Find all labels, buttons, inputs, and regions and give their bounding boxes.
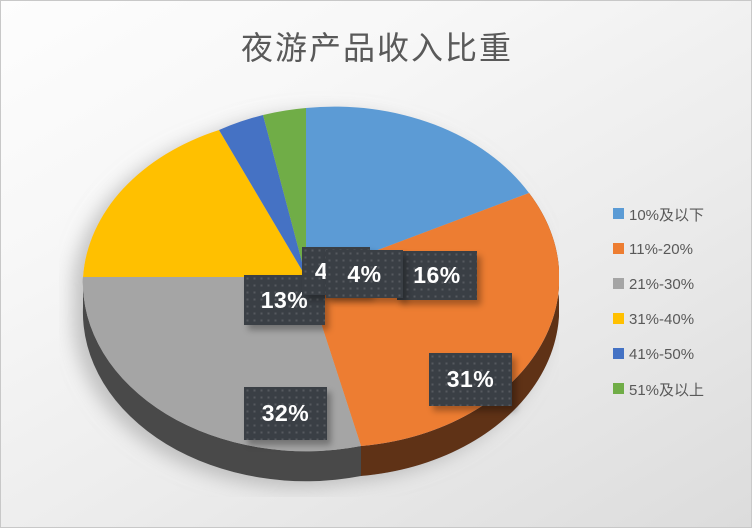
legend-swatch-icon <box>613 208 624 219</box>
legend-item-21-30[interactable]: 21%-30% <box>613 267 745 302</box>
legend-item-label: 21%-30% <box>629 276 694 293</box>
legend-item-11-20[interactable]: 11%-20% <box>613 232 745 267</box>
data-label-10-and-below: 16% <box>397 251 477 300</box>
legend-item-label: 41%-50% <box>629 346 694 363</box>
legend-item-label: 11%-20% <box>629 241 693 258</box>
legend-item-label: 10%及以下 <box>629 204 704 225</box>
data-label-text: 4% <box>347 263 381 286</box>
data-label-text: 16% <box>413 264 461 287</box>
legend-swatch-icon <box>613 313 624 324</box>
chart-legend: 10%及以下 11%-20% 21%-30% 31%-40% 41%-50% 5… <box>613 197 745 407</box>
data-label-21-30: 32% <box>244 387 327 440</box>
legend-item-label: 31%-40% <box>629 311 694 328</box>
legend-swatch-icon <box>613 348 624 359</box>
legend-item-label: 51%及以上 <box>629 379 704 400</box>
data-label-text: 32% <box>262 402 310 425</box>
legend-item-41-50[interactable]: 41%-50% <box>613 337 745 372</box>
data-label-11-20: 31% <box>429 353 512 406</box>
data-label-51-and-above: 4% <box>326 250 403 298</box>
data-label-text: 31% <box>447 368 495 391</box>
legend-item-51-and-above[interactable]: 51%及以上 <box>613 372 745 407</box>
legend-swatch-icon <box>613 278 624 289</box>
legend-swatch-icon <box>613 383 624 394</box>
legend-swatch-icon <box>613 243 624 254</box>
pie-3d-graphic[interactable]: 16% 31% 32% 13% 4% 4% <box>59 87 559 497</box>
chart-canvas: 夜游产品收入比重 <box>0 0 752 528</box>
legend-item-10-and-below[interactable]: 10%及以下 <box>613 197 745 232</box>
chart-title: 夜游产品收入比重 <box>1 23 752 69</box>
legend-item-31-40[interactable]: 31%-40% <box>613 302 745 337</box>
